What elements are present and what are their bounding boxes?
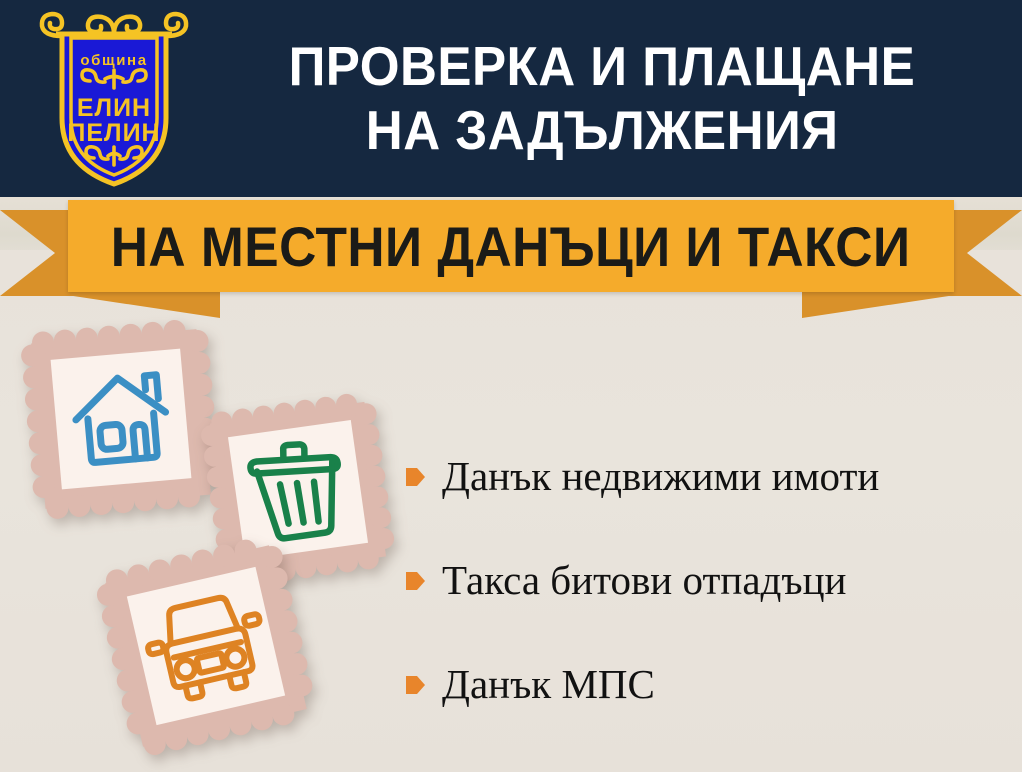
bullet-arrow-icon: [404, 465, 426, 489]
service-list: Данък недвижими имоти Такса битови отпад…: [404, 424, 1014, 736]
svg-text:ЕЛИН: ЕЛИН: [77, 94, 151, 122]
ribbon-label: НА МЕСТНИ ДАНЪЦИ И ТАКСИ: [111, 214, 911, 279]
subtitle-ribbon: НА МЕСТНИ ДАНЪЦИ И ТАКСИ: [0, 196, 1022, 308]
ribbon-band: НА МЕСТНИ ДАНЪЦИ И ТАКСИ: [68, 200, 954, 292]
poster-title: ПРОВЕРКА И ПЛАЩАНЕ НА ЗАДЪЛЖЕНИЯ: [196, 14, 1008, 184]
coat-of-arms-icon: община ЕЛИН ПЕЛИН: [34, 8, 194, 188]
list-item-label: Данък недвижими имоти: [442, 456, 879, 497]
title-line-1: ПРОВЕРКА И ПЛАЩАНЕ: [289, 35, 916, 99]
vehicle-stamp: [92, 532, 320, 760]
list-item-label: Данък МПС: [442, 664, 655, 705]
property-stamp: [14, 312, 229, 527]
bullet-arrow-icon: [404, 569, 426, 593]
list-item[interactable]: Данък МПС: [404, 632, 1014, 736]
list-item-label: Такса битови отпадъци: [442, 560, 846, 601]
svg-text:община: община: [80, 52, 147, 69]
list-item[interactable]: Данък недвижими имоти: [404, 424, 1014, 528]
title-line-2: НА ЗАДЪЛЖЕНИЯ: [366, 99, 839, 163]
poster-root: община ЕЛИН ПЕЛИН ПРОВЕРКА И ПЛАЩАНЕ НА …: [0, 0, 1022, 772]
list-item[interactable]: Такса битови отпадъци: [404, 528, 1014, 632]
bullet-arrow-icon: [404, 673, 426, 697]
svg-text:ПЕЛИН: ПЕЛИН: [67, 119, 160, 147]
